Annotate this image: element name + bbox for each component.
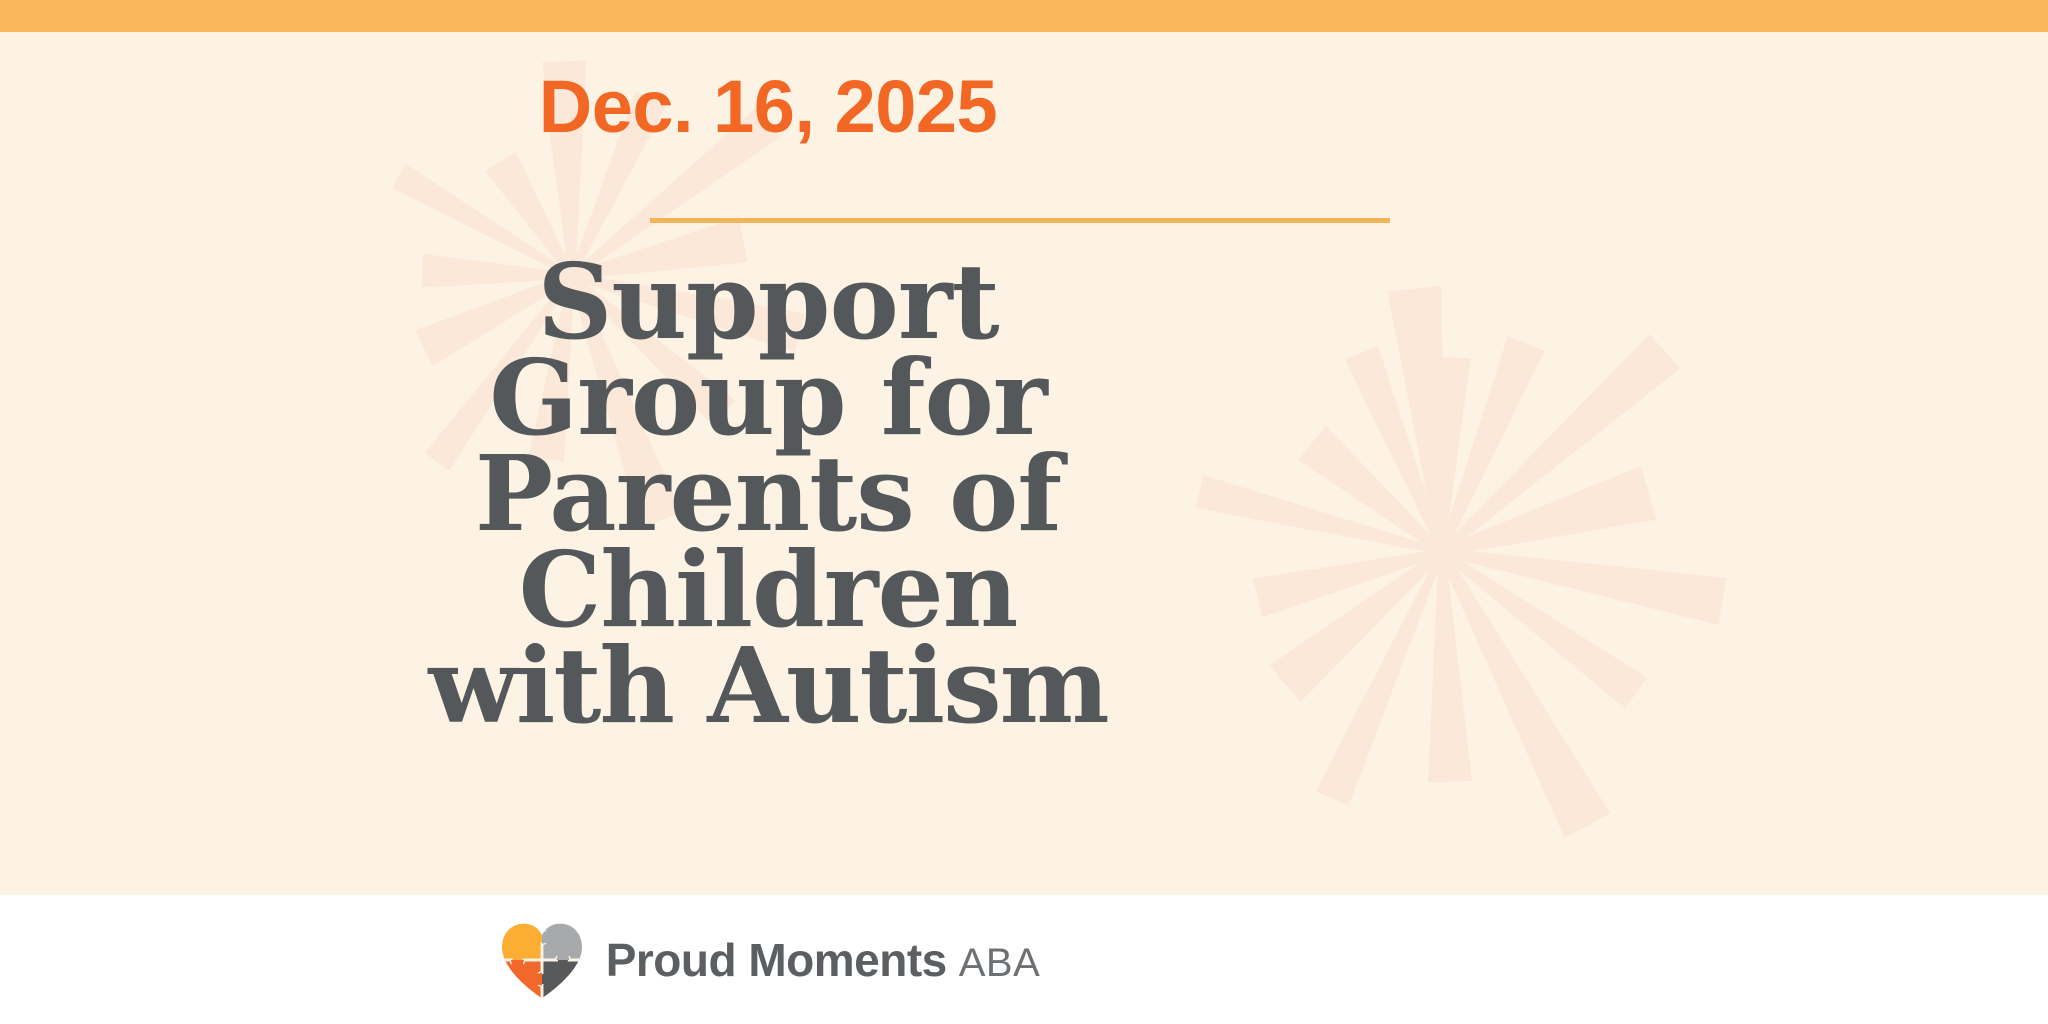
divider-rule [650,218,1390,223]
banner-body: Dec. 16, 2025 Support Group for Parents … [0,32,2048,895]
brand-suffix: ABA [959,943,1041,983]
brand-logo-lockup: Proud Moments ABA [0,895,1536,1024]
page-title: Support Group for Parents of Children wi… [0,254,1536,734]
puzzle-heart-icon [496,920,588,1000]
event-announcement-banner: Dec. 16, 2025 Support Group for Parents … [0,0,2048,1024]
headline-line: with Autism [0,638,1536,734]
event-date: Dec. 16, 2025 [0,70,1536,144]
brand-wordmark: Proud Moments ABA [606,937,1041,983]
brand-name: Proud Moments [606,937,947,983]
banner-footer: Proud Moments ABA [0,895,2048,1024]
top-accent-bar [0,0,2048,32]
